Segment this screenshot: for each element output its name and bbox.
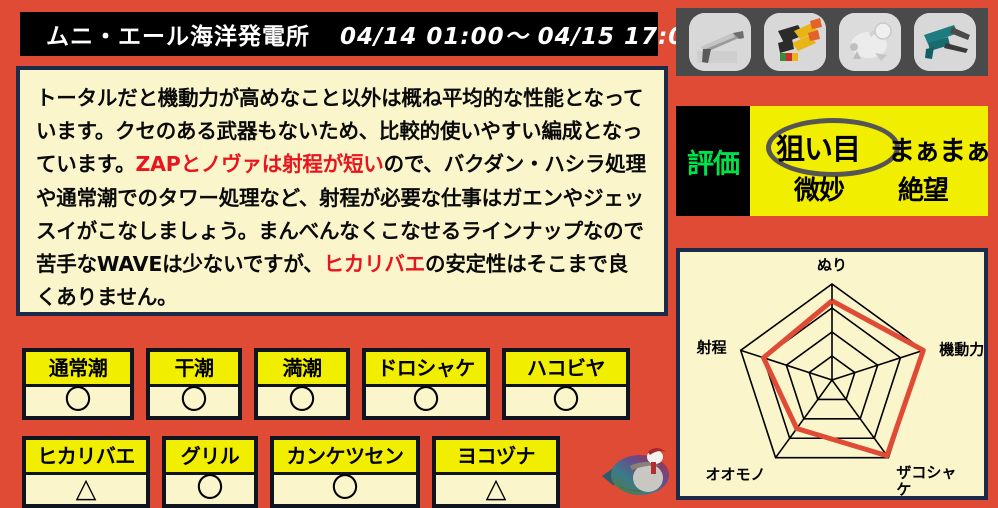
wave-tag-label: 通常潮 [26, 352, 130, 387]
evaluation-options: 狙い目 まぁまぁ 微妙 絶望 [750, 106, 988, 216]
weapon-slot-4[interactable] [914, 13, 976, 71]
right-column: 評価 狙い目 まぁまぁ 微妙 絶望 ぬり機動力ザコシャケオオモノ射程 [676, 8, 988, 500]
description-highlight: ZAPとノヴァは射程が短い [135, 152, 383, 176]
wave-tag-rating: 〇 [166, 475, 254, 504]
wave-tag-rating: △ [26, 475, 146, 504]
evaluation-option-zetsubou[interactable]: 絶望 [898, 170, 948, 207]
radar-chart: ぬり機動力ザコシャケオオモノ射程 [680, 252, 984, 496]
salmonid-mascot-icon [600, 442, 676, 504]
evaluation-option-bimyou[interactable]: 微妙 [794, 170, 844, 207]
weapon-slot-1[interactable] [689, 13, 751, 71]
jetsquelcher-icon [914, 13, 976, 71]
wave-tag-label: カンケツセン [274, 440, 416, 475]
nova-blaster-icon [764, 13, 826, 71]
wave-tag[interactable]: ヨコヅナ△ [432, 436, 560, 508]
wave-tag[interactable]: ドロシャケ〇 [362, 348, 490, 420]
wave-tag[interactable]: グリル〇 [162, 436, 258, 508]
wave-tag-rating: 〇 [274, 475, 416, 504]
radar-chart-panel: ぬり機動力ザコシャケオオモノ射程 [676, 248, 988, 500]
weapon-slot-3[interactable] [839, 13, 901, 71]
weapon-slot-2[interactable] [764, 13, 826, 71]
radar-axis-label: 機動力 [939, 340, 984, 358]
wave-tag-label: 干潮 [150, 352, 238, 387]
radar-axis-labels: ぬり機動力ザコシャケオオモノ射程 [696, 256, 984, 496]
evaluation-option-maamaa[interactable]: まぁまぁ [888, 129, 990, 168]
description-panel: トータルだと機動力が高めなこと以外は概ね平均的な性能となっています。クセのある武… [16, 66, 668, 316]
radar-axis-label: ザコシャ [896, 464, 956, 482]
wave-tag-row-primary: 通常潮〇干潮〇満潮〇ドロシャケ〇ハコビヤ〇 [22, 348, 642, 420]
evaluation-panel: 評価 狙い目 まぁまぁ 微妙 絶望 [676, 106, 988, 216]
app-root: ムニ・エール海洋発電所 04/14 01:00〜 04/15 17:00 トータ… [0, 0, 998, 507]
wave-tag[interactable]: カンケツセン〇 [270, 436, 420, 508]
left-column: ムニ・エール海洋発電所 04/14 01:00〜 04/15 17:00 トータ… [12, 8, 666, 502]
stage-title-bar: ムニ・エール海洋発電所 04/14 01:00〜 04/15 17:00 [20, 12, 658, 56]
wave-tag-label: ヨコヅナ [436, 440, 556, 475]
wave-tag-rating: 〇 [150, 387, 238, 416]
evaluation-label: 評価 [676, 106, 750, 216]
wave-tag[interactable]: ハコビヤ〇 [502, 348, 630, 420]
wave-tag[interactable]: 通常潮〇 [22, 348, 134, 420]
radar-axis-label: ぬり [817, 256, 847, 274]
page-title: ムニ・エール海洋発電所 [46, 17, 310, 51]
rotation-period: 04/14 01:00〜 04/15 17:00 [340, 17, 702, 51]
weapon-lineup-panel [676, 8, 988, 76]
wave-tag-rating: 〇 [366, 387, 486, 416]
description-highlight: ヒカリバエ [324, 252, 426, 276]
evaluation-option-neraime[interactable]: 狙い目 [776, 126, 860, 168]
wave-tag-row-secondary: ヒカリバエ△グリル〇カンケツセン〇ヨコヅナ△ [22, 436, 572, 508]
radar-axis-label: ケ [896, 481, 911, 496]
wave-tag-label: ドロシャケ [366, 352, 486, 387]
sploosh-o-matic-icon [689, 13, 751, 71]
wave-tag-rating: 〇 [26, 387, 130, 416]
wave-tag[interactable]: 干潮〇 [146, 348, 242, 420]
description-text: トータルだと機動力が高めなこと以外は概ね平均的な性能となっています。クセのある武… [36, 82, 648, 314]
wave-tag-label: 満潮 [258, 352, 346, 387]
wave-tag[interactable]: ヒカリバエ△ [22, 436, 150, 508]
wave-tag-label: グリル [166, 440, 254, 475]
wave-tag-rating: △ [436, 475, 556, 504]
gaen-icon [839, 13, 901, 71]
radar-axis-label: オオモノ [706, 466, 766, 484]
wave-tag-rating: 〇 [258, 387, 346, 416]
wave-tag-rating: 〇 [506, 387, 626, 416]
wave-tag-label: ヒカリバエ [26, 440, 146, 475]
radar-axis-label: 射程 [696, 338, 727, 356]
wave-tag-label: ハコビヤ [506, 352, 626, 387]
wave-tag[interactable]: 満潮〇 [254, 348, 350, 420]
